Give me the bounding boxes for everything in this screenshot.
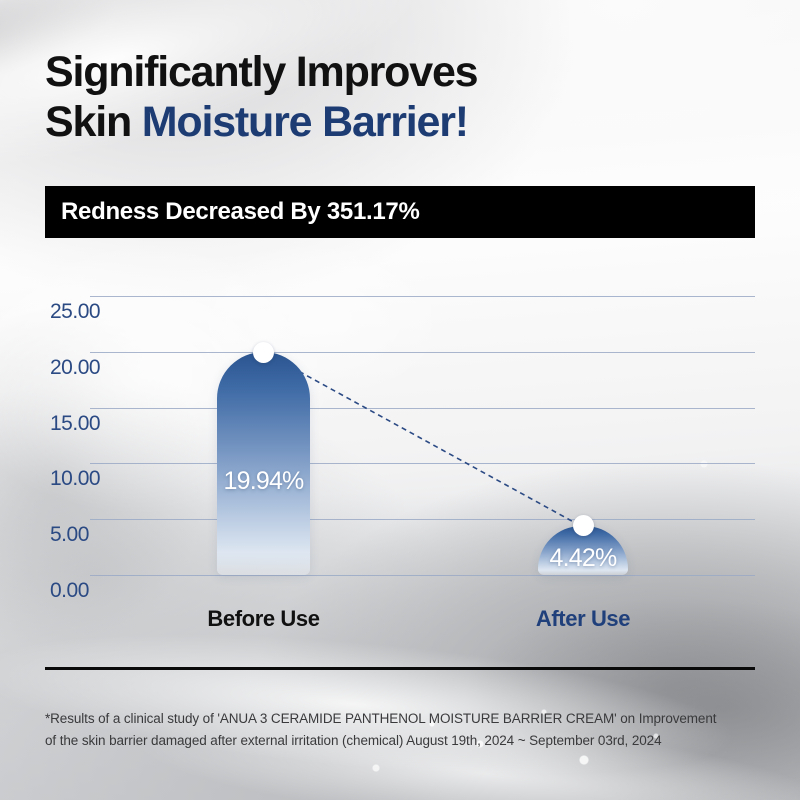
bar-before-use: 19.94%: [217, 352, 310, 575]
x-axis-label-after-use: After Use: [473, 606, 693, 632]
footer-divider: [45, 667, 755, 670]
infographic-page: Significantly Improves Skin Moisture Bar…: [0, 0, 800, 800]
footnote: *Results of a clinical study of 'ANUA 3 …: [45, 708, 760, 752]
trend-connector-line: [0, 0, 800, 800]
bar-value-label: 19.94%: [217, 467, 310, 496]
bar-value-label: 4.42%: [538, 544, 628, 573]
footnote-line-2: of the skin barrier damaged after extern…: [45, 730, 760, 752]
bar-chart: 25.0020.0015.0010.005.000.00 19.94%4.42%…: [0, 0, 800, 800]
x-axis-label-before-use: Before Use: [154, 606, 374, 632]
footnote-line-1: *Results of a clinical study of 'ANUA 3 …: [45, 708, 760, 730]
data-point-marker-icon: [573, 515, 594, 536]
data-point-marker-icon: [253, 342, 274, 363]
